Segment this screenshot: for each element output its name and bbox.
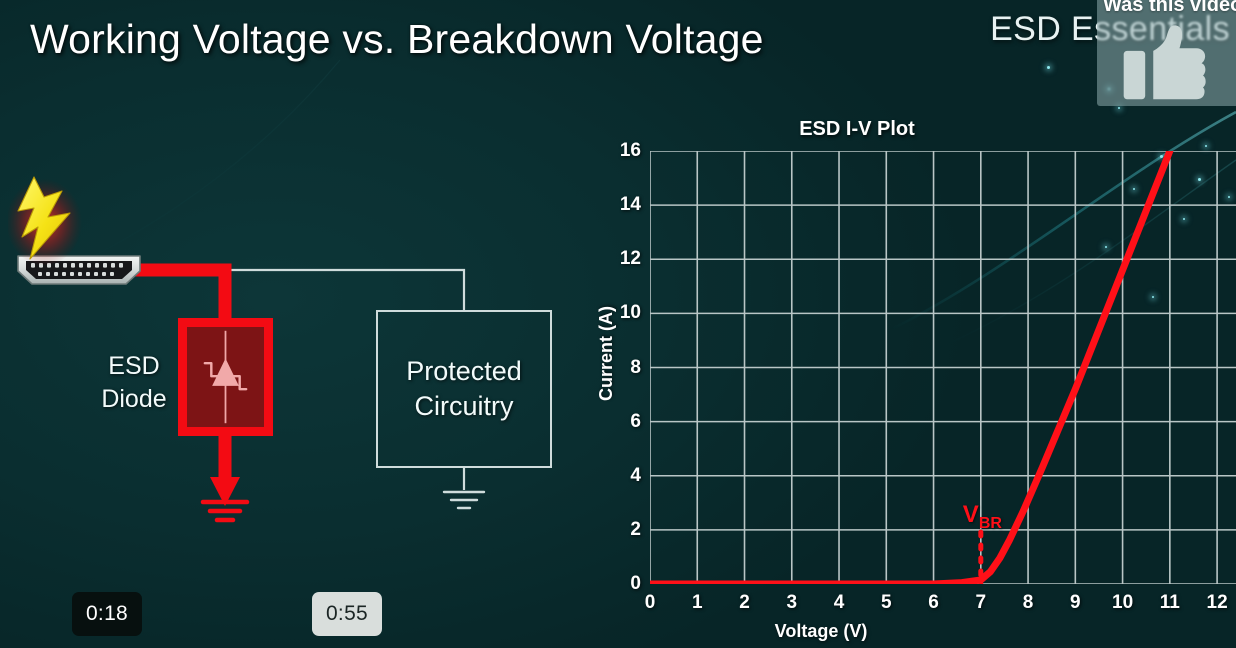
protected-circuitry-label: Protected Circuitry: [406, 354, 522, 423]
chart-y-tick: 10: [620, 302, 641, 324]
chart-y-tick: 4: [630, 465, 641, 487]
chart-y-tick: 2: [630, 519, 641, 541]
chart-y-axis-label: Current (A): [596, 306, 617, 401]
survey-prompt-text: Was this video: [1103, 0, 1236, 17]
esd-label-line1: ESD: [88, 350, 180, 383]
chart-x-tick: 12: [1207, 592, 1228, 614]
chart-x-tick: 9: [1070, 592, 1081, 614]
chart-x-tick: 0: [645, 592, 656, 614]
protected-label-line2: Circuitry: [406, 389, 522, 424]
chart-y-tick: 12: [620, 248, 641, 270]
protected-label-line1: Protected: [406, 354, 522, 389]
chart-x-tick: 11: [1160, 592, 1180, 614]
slide-canvas: Working Voltage vs. Breakdown Voltage ES…: [0, 0, 1236, 648]
chart-x-axis-label: Voltage (V): [578, 621, 1064, 642]
chart-title-text: ESD I-V Plot: [799, 118, 915, 140]
esd-diode-label: ESD Diode: [88, 350, 180, 416]
total-time-badge[interactable]: 0:55: [312, 592, 382, 636]
vbr-subscript: BR: [979, 515, 1002, 532]
chart-title: ESD I-V Plot: [578, 118, 1236, 141]
chart-y-tick: 0: [630, 573, 641, 595]
chart-y-tick: 6: [630, 411, 641, 433]
current-time-badge[interactable]: 0:18: [72, 592, 142, 636]
esd-iv-chart: ESD I-V Plot Current (A) Voltage (V) 024…: [578, 108, 1236, 648]
chart-y-tick: 14: [620, 194, 641, 216]
chart-x-tick: 3: [786, 592, 797, 614]
chart-x-tick: 5: [881, 592, 892, 614]
vbr-main: V: [963, 501, 979, 528]
protected-circuitry-block: Protected Circuitry: [376, 310, 552, 468]
chart-x-tick: 6: [928, 592, 939, 614]
chart-x-tick: 2: [739, 592, 750, 614]
chart-x-tick: 1: [692, 592, 703, 614]
thumbs-up-icon[interactable]: [1121, 24, 1207, 102]
chart-gridlines: [650, 151, 1236, 584]
breakdown-voltage-annotation: VBR: [963, 501, 1002, 533]
chart-x-tick: 7: [976, 592, 987, 614]
chart-canvas: [650, 151, 1236, 584]
chart-x-tick: 4: [834, 592, 845, 614]
esd-diode-component: [178, 318, 273, 436]
esd-label-line2: Diode: [88, 383, 180, 416]
chart-x-tick: 10: [1112, 592, 1133, 614]
slide-title: Working Voltage vs. Breakdown Voltage: [30, 16, 764, 63]
lightning-bolt-icon: [8, 175, 84, 267]
chart-y-tick: 8: [630, 357, 641, 379]
circuit-diagram: ESD Diode Protected Circuitry: [0, 185, 600, 545]
chart-plot-area: 0246810121416 0123456789101112 VBR: [650, 151, 1236, 584]
chart-x-tick: 8: [1023, 592, 1034, 614]
chart-y-tick: 16: [620, 140, 641, 162]
tvs-diode-symbol-icon: [187, 327, 264, 427]
video-survey-overlay[interactable]: Was this video: [1097, 0, 1236, 106]
